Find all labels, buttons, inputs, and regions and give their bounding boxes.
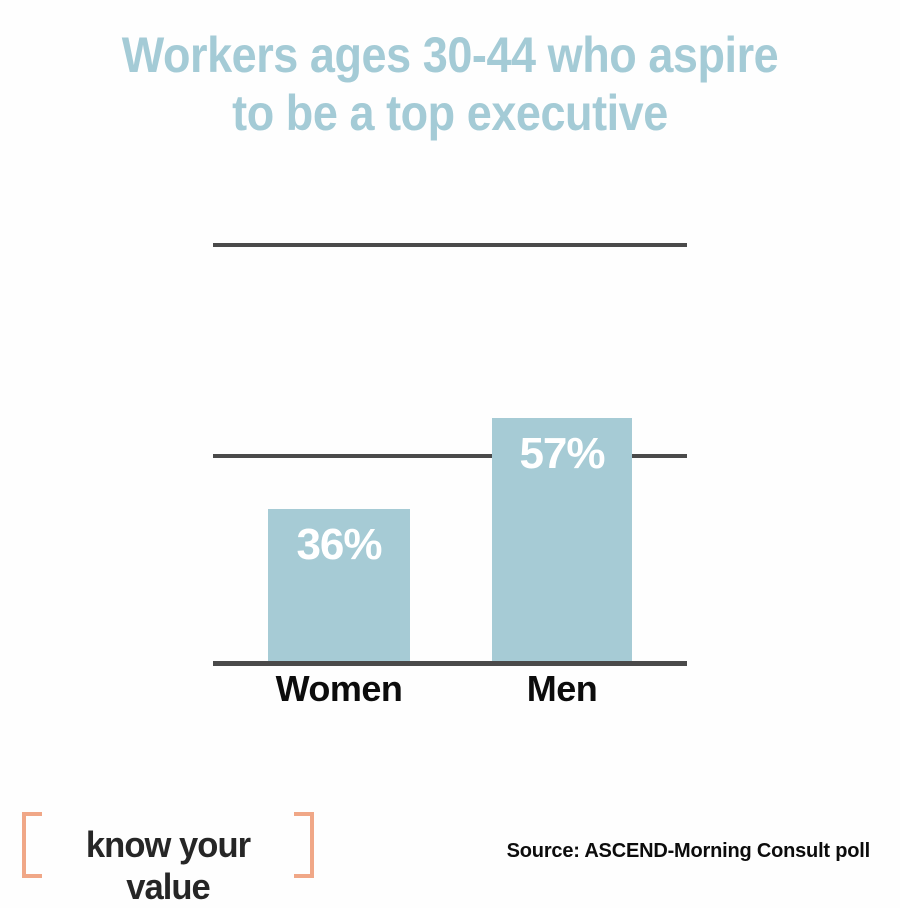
page-title: Workers ages 30-44 who aspire to be a to… [99, 26, 801, 142]
gridline-upper [213, 243, 687, 247]
left-bracket-icon [22, 812, 42, 878]
bar-value-men: 57% [492, 432, 632, 476]
source-credit: Source: ASCEND-Morning Consult poll [507, 841, 870, 861]
right-bracket-icon [294, 812, 314, 878]
category-label-men: Men [472, 671, 652, 707]
infographic-canvas: Workers ages 30-44 who aspire to be a to… [0, 0, 900, 900]
category-label-women: Women [249, 671, 429, 707]
bar-women[interactable]: 36% [268, 509, 410, 661]
bar-value-women: 36% [268, 523, 410, 567]
brand-name: know your value [55, 824, 282, 908]
brand-logo[interactable]: know your value [22, 812, 314, 878]
axis-baseline [213, 661, 687, 666]
chart-plot-area: 36% 57% Women Men [213, 243, 687, 663]
bar-men[interactable]: 57% [492, 418, 632, 661]
